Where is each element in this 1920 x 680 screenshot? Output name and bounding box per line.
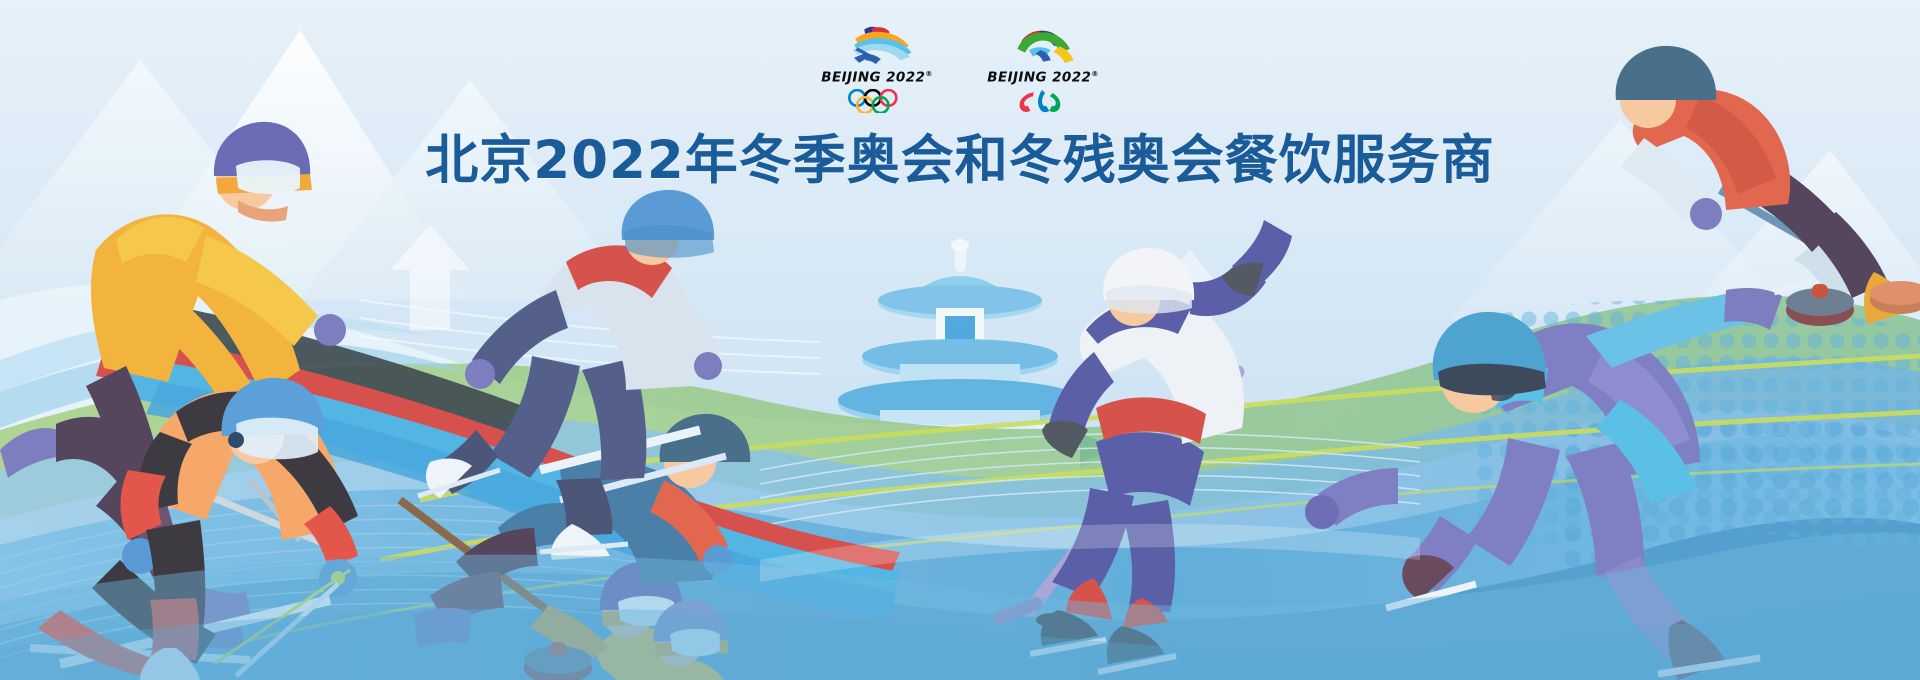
paralympic-wordmark: BEIJING 2022® — [987, 71, 1098, 85]
banner-title: 北京2022年冬季奥会和冬残奥会餐饮服务商 — [0, 118, 1920, 194]
olympic-logo-block: BEIJING 2022® — [812, 22, 942, 113]
paralympic-agitos-icon — [1011, 89, 1075, 113]
olympic-rings-icon — [845, 89, 909, 113]
olympic-wordmark: BEIJING 2022® — [821, 71, 932, 85]
emblem-row: BEIJING 2022® BEIJING 2022® — [0, 22, 1920, 113]
beijing-2022-winter-olympic-emblem-icon — [838, 22, 916, 68]
paralympic-logo-block: BEIJING 2022® — [978, 22, 1108, 113]
beijing-2022-winter-paralympic-emblem-icon — [1004, 22, 1082, 68]
olympic-sponsor-banner: BEIJING 2022® BEIJING 2022® — [0, 0, 1920, 680]
